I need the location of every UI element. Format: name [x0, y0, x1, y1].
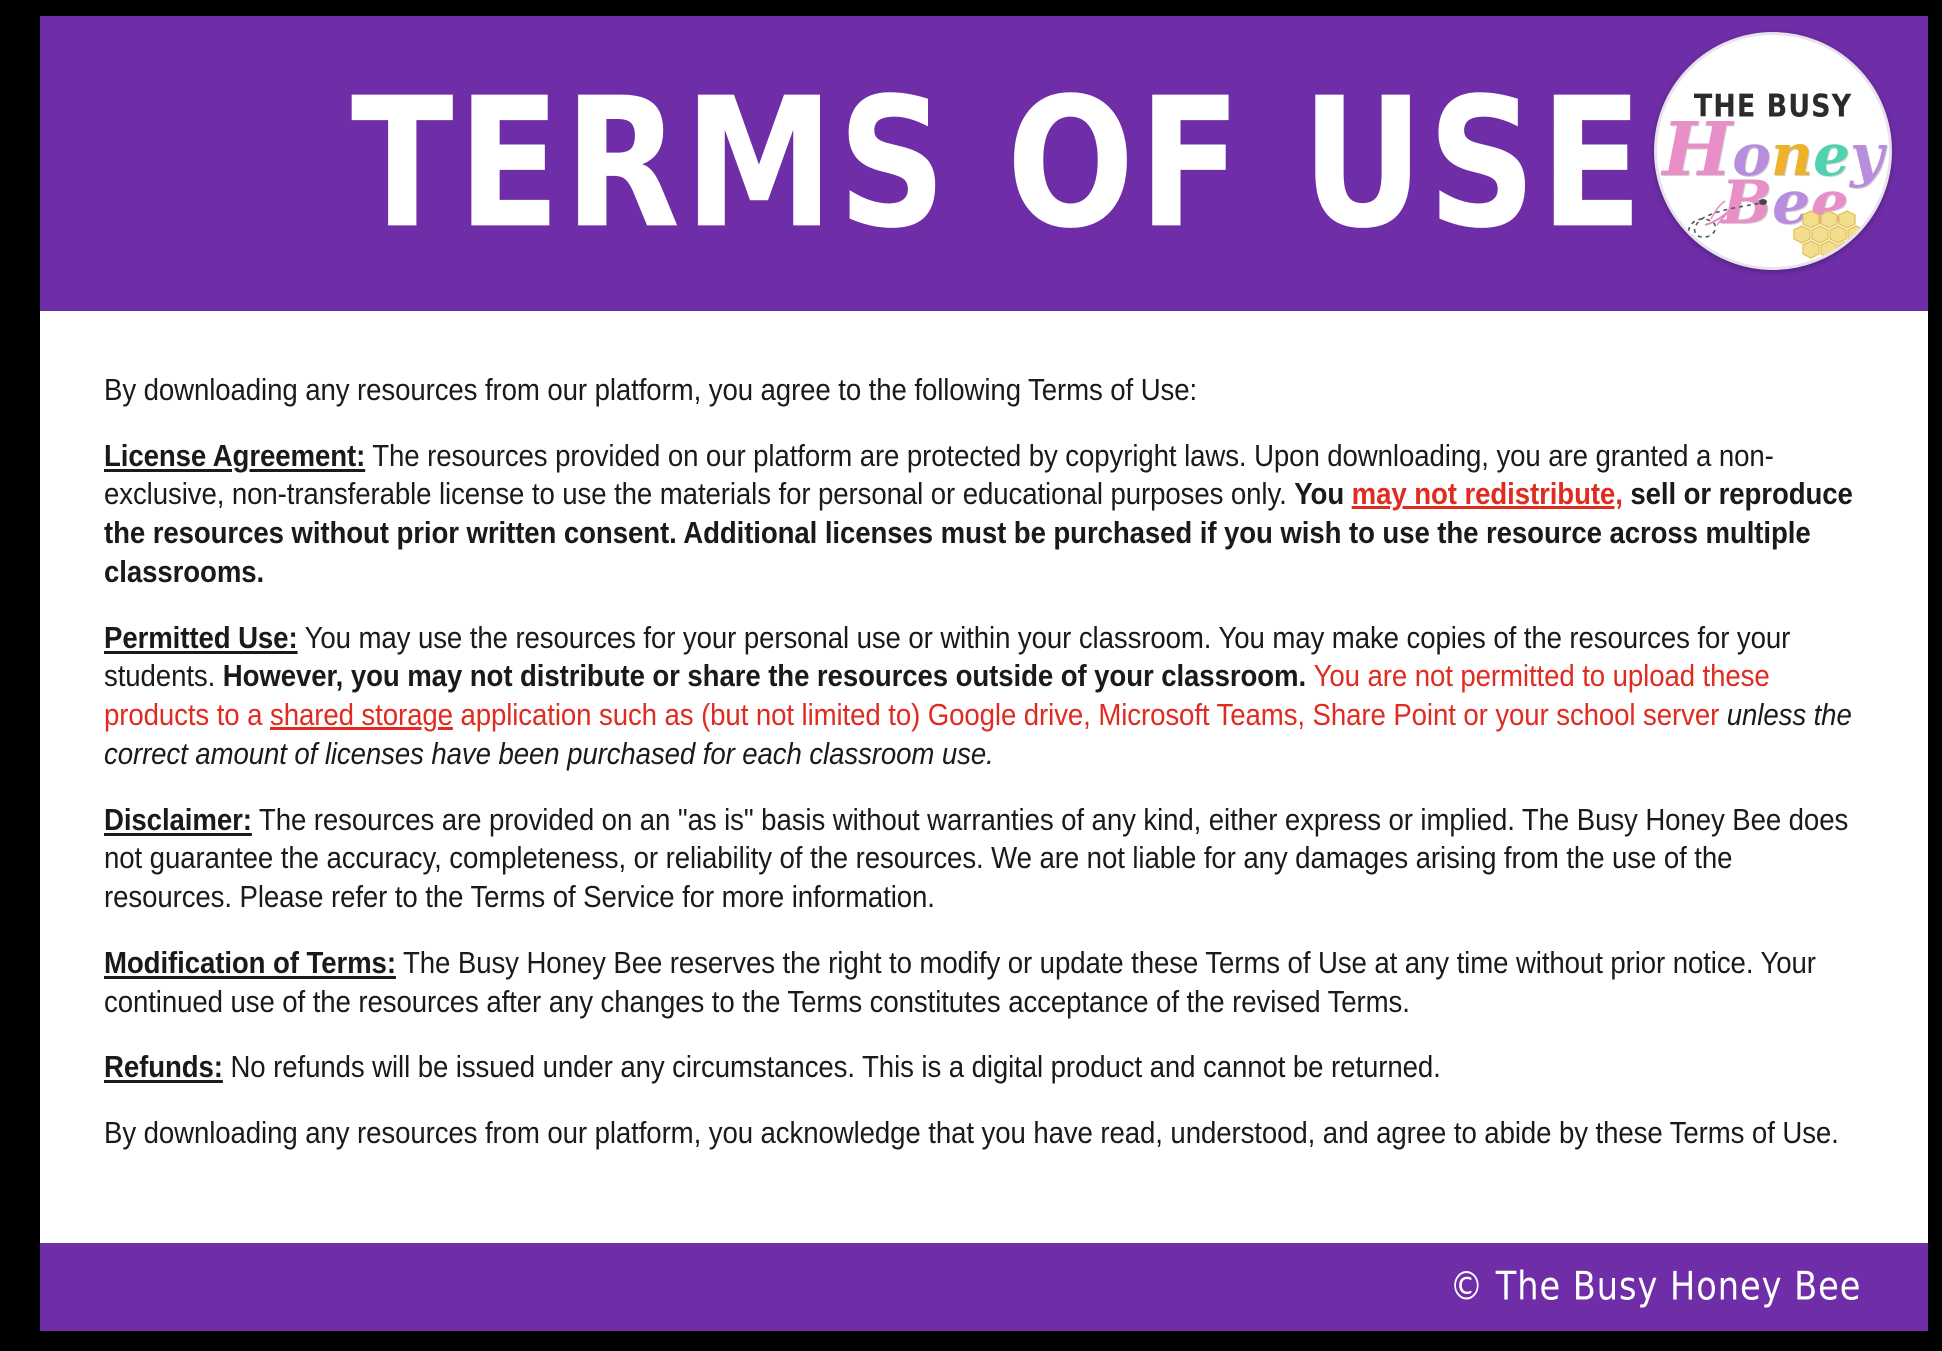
slide-sheet: TERMS OF USE THE BUSY Honey Bee: [40, 16, 1928, 1331]
license-paragraph: License Agreement: The resources provide…: [104, 437, 1866, 592]
disclaimer-term-label: Disclaimer:: [104, 803, 252, 837]
permitted-term-label: Permitted Use:: [104, 621, 298, 655]
permitted-red-2: application such as (but not limited to)…: [453, 698, 1727, 732]
refunds-text: No refunds will be issued under any circ…: [223, 1050, 1441, 1084]
disclaimer-paragraph: Disclaimer: The resources are provided o…: [104, 801, 1866, 917]
page-title: TERMS OF USE: [49, 74, 1918, 253]
modification-term-label: Modification of Terms:: [104, 946, 396, 980]
disclaimer-text: The resources are provided on an "as is"…: [104, 803, 1848, 914]
modification-paragraph: Modification of Terms: The Busy Honey Be…: [104, 944, 1866, 1021]
logo-circle: THE BUSY Honey Bee: [1654, 32, 1892, 270]
header-banner: TERMS OF USE THE BUSY Honey Bee: [40, 16, 1928, 311]
copyright-text: © The Busy Honey Bee: [1450, 1265, 1862, 1310]
footer-banner: © The Busy Honey Bee: [40, 1243, 1928, 1331]
refunds-term-label: Refunds:: [104, 1050, 223, 1084]
intro-text: By downloading any resources from our pl…: [104, 373, 1197, 407]
slide-page: TERMS OF USE THE BUSY Honey Bee: [0, 0, 1942, 1351]
permitted-use-paragraph: Permitted Use: You may use the resources…: [104, 619, 1866, 774]
terms-content: By downloading any resources from our pl…: [40, 311, 1928, 1243]
license-bold-you: You: [1294, 477, 1351, 511]
refunds-paragraph: Refunds: No refunds will be issued under…: [104, 1048, 1866, 1087]
closing-paragraph: By downloading any resources from our pl…: [104, 1114, 1866, 1153]
license-red-underline: may not redistribute,: [1352, 477, 1623, 511]
closing-text: By downloading any resources from our pl…: [104, 1116, 1839, 1150]
logo: THE BUSY Honey Bee: [1654, 32, 1886, 264]
permitted-red-underline: shared storage: [270, 698, 453, 732]
honeycomb-icon: [1791, 209, 1867, 261]
permitted-bold-1: However, you may not distribute or share…: [223, 659, 1314, 693]
bee-flight-path-icon: [1683, 193, 1769, 253]
license-term-label: License Agreement:: [104, 439, 365, 473]
intro-paragraph: By downloading any resources from our pl…: [104, 371, 1866, 410]
